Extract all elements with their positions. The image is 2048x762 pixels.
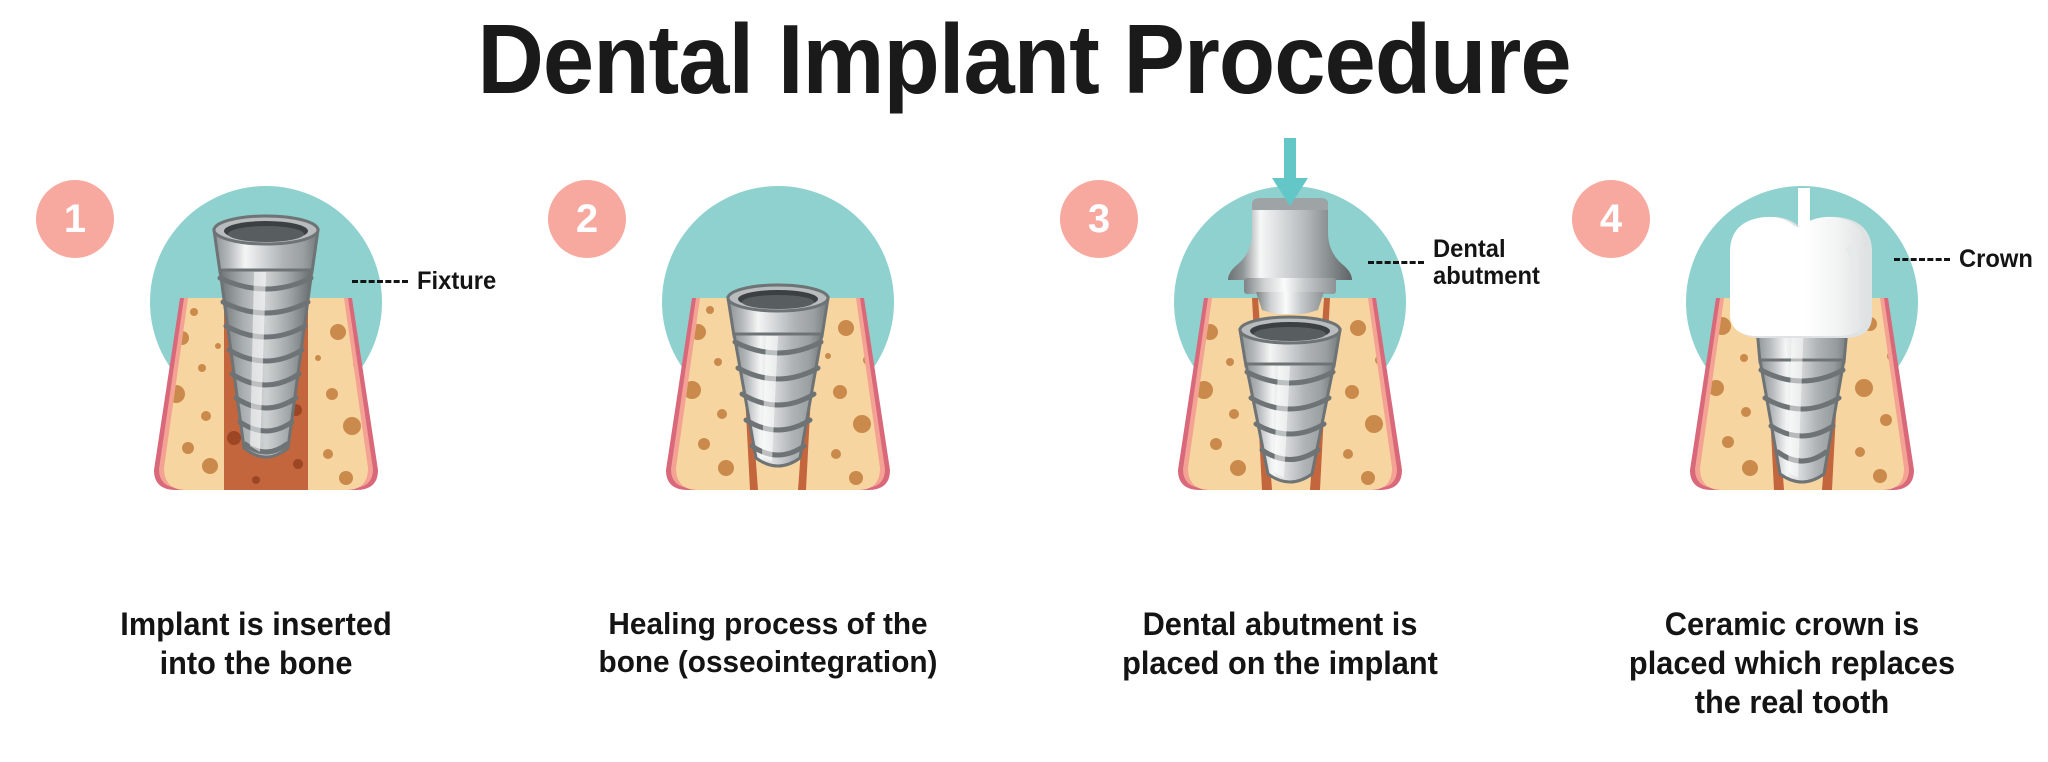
place-arrow-icon xyxy=(1270,138,1310,206)
step-1-illustration: Fixture xyxy=(76,150,456,490)
step-badge-4: 4 xyxy=(1572,180,1650,258)
callout-leader-line xyxy=(352,280,408,283)
implant-fixture xyxy=(204,208,328,480)
step-badge-1: 1 xyxy=(36,180,114,258)
step-3-illustration: Dental abutment xyxy=(1100,150,1480,490)
step-number-1: 1 xyxy=(64,197,86,242)
callout-label: Dental abutment xyxy=(1433,236,1540,289)
callout-label: Fixture xyxy=(417,268,496,295)
step-caption-3: Dental abutment is placed on the implant xyxy=(1034,605,1526,683)
dental-abutment xyxy=(1222,198,1358,314)
implant-fixture xyxy=(1228,314,1352,494)
step-3: 3 xyxy=(1024,150,1536,762)
implant-fixture xyxy=(1748,318,1856,494)
callout-label: Crown xyxy=(1959,246,2033,273)
step-caption-1: Implant is inserted into the bone xyxy=(10,605,502,683)
step-1: 1 xyxy=(0,150,512,762)
infographic-page: Dental Implant Procedure 1 xyxy=(0,0,2048,762)
step-4: 4 xyxy=(1536,150,2048,762)
step-2-illustration xyxy=(588,150,968,490)
step-caption-2: Healing process of the bone (osseointegr… xyxy=(522,605,1014,681)
step-2: 2 xyxy=(512,150,1024,762)
step-4-illustration: Crown xyxy=(1612,150,1992,490)
steps-row: 1 xyxy=(0,150,2048,762)
callout-crown: Crown xyxy=(1894,246,2037,273)
step-badge-2: 2 xyxy=(548,180,626,258)
callout-dental-abutment: Dental abutment xyxy=(1368,236,1546,289)
ceramic-crown xyxy=(1720,212,1884,344)
step-number-3: 3 xyxy=(1088,197,1110,242)
implant-fixture xyxy=(716,280,840,480)
step-badge-3: 3 xyxy=(1060,180,1138,258)
callout-fixture: Fixture xyxy=(352,268,500,295)
callout-leader-line xyxy=(1368,261,1424,264)
page-title: Dental Implant Procedure xyxy=(61,8,1986,111)
step-caption-4: Ceramic crown is placed which replaces t… xyxy=(1546,605,2038,722)
callout-leader-line xyxy=(1894,258,1950,261)
step-number-2: 2 xyxy=(576,197,598,242)
step-number-4: 4 xyxy=(1600,197,1622,242)
